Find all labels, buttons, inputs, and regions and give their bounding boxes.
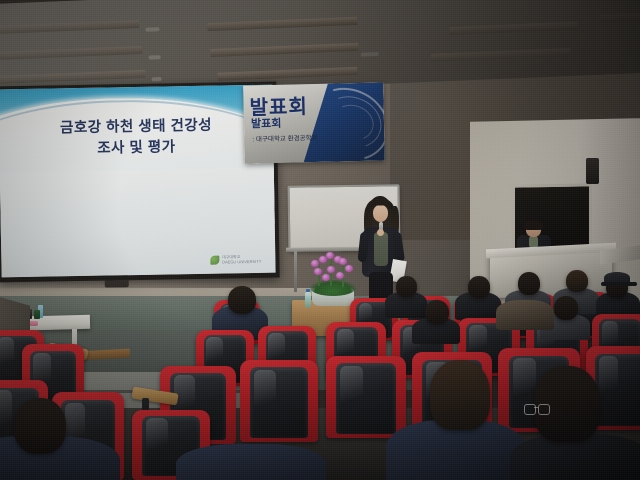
- orchid-bloom: [311, 260, 319, 267]
- baseball-cap: [604, 272, 630, 284]
- whiteboard-leg: [294, 250, 297, 292]
- banner-shading: [243, 82, 385, 163]
- screen-bottom-weight: [105, 280, 129, 287]
- orchid-bloom: [326, 252, 334, 259]
- eyeglasses: [524, 404, 548, 413]
- operator-hair: [524, 220, 543, 230]
- presenter-face: [373, 205, 388, 222]
- slide-title: 금호강 하천 생태 건강성 조사 및 평가: [0, 115, 274, 161]
- presenter-hand: [377, 229, 384, 236]
- slide-university-logo: 대구대학교 DAEGU UNIVERSITY: [210, 255, 261, 265]
- orchid-bloom: [322, 274, 330, 281]
- lecture-hall-photo: 금호강 하천 생태 건강성 조사 및 평가 대구대학교 DAEGU UNIVER…: [0, 0, 640, 480]
- water-bottle: [305, 292, 311, 308]
- projection-screen: 금호강 하천 생태 건강성 조사 및 평가 대구대학교 DAEGU UNIVER…: [0, 82, 280, 283]
- orchid-bloom: [339, 258, 347, 265]
- flower-leaves: [310, 280, 356, 296]
- leaf-icon: [210, 256, 219, 265]
- wall-speaker: [586, 158, 599, 184]
- orchid-bloom: [327, 266, 335, 273]
- logo-text-english: DAEGU UNIVERSITY: [222, 258, 261, 264]
- event-banner: 발표회 발표회 : 대구대학교 환경공학과: [243, 82, 385, 163]
- beverage-can: [34, 310, 40, 319]
- auditorium-seat: [240, 360, 318, 442]
- auditorium-seat: [326, 356, 406, 438]
- orchid-bloom: [336, 272, 344, 279]
- presenter-shirt: [374, 232, 388, 266]
- orchid-bloom: [345, 265, 353, 272]
- orchid-bloom: [314, 268, 322, 275]
- screen-surface: 금호강 하천 생태 건강성 조사 및 평가 대구대학교 DAEGU UNIVER…: [0, 85, 276, 278]
- slide-title-line-1: 금호강 하천 생태 건강성: [60, 118, 212, 137]
